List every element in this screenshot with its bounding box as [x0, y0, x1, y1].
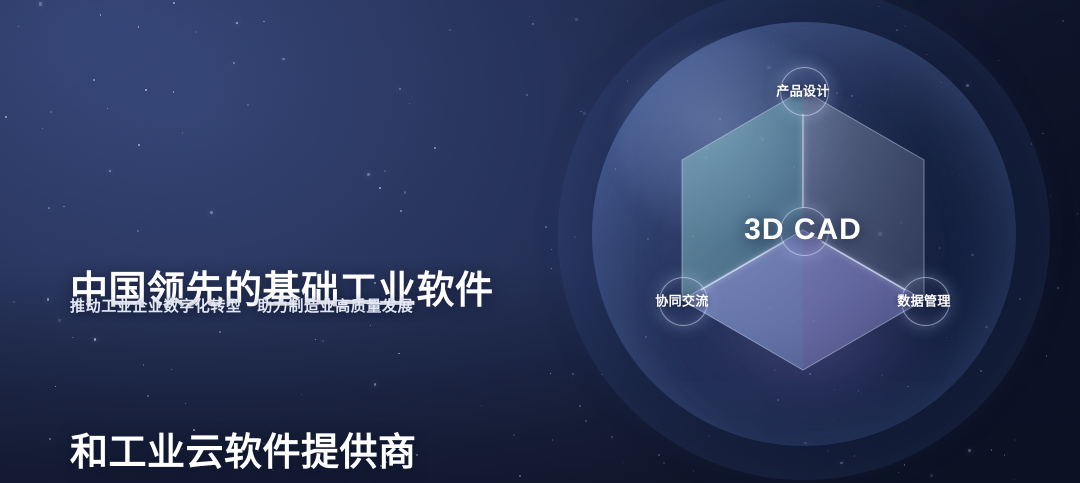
star-particle [233, 62, 235, 64]
star-particle [247, 104, 249, 106]
star-particle [48, 207, 50, 209]
star-particle [991, 449, 993, 451]
star-particle [585, 420, 587, 422]
star-particle [1077, 213, 1079, 215]
star-particle [55, 386, 56, 387]
star-particle [552, 439, 554, 441]
star-particle [282, 58, 284, 60]
sphere-diagram: 产品设计 协同交流 数据管理 3D CAD [592, 22, 1016, 446]
star-particle [1004, 454, 1006, 456]
star-particle [173, 2, 175, 4]
star-particle [663, 462, 665, 464]
star-particle [173, 91, 175, 93]
star-particle [50, 111, 52, 113]
star-particle [904, 464, 905, 465]
star-particle [107, 108, 108, 109]
node-label-product-design[interactable]: 产品设计 [776, 81, 830, 100]
star-particle [1050, 196, 1051, 197]
star-particle [93, 79, 95, 81]
star-particle [572, 373, 574, 375]
star-particle [409, 103, 410, 104]
star-particle [236, 22, 238, 24]
node-label-collaboration[interactable]: 协同交流 [655, 291, 709, 310]
hero-banner: 中国领先的基础工业软件 和工业云软件提供商 推动工业企业数字化转型 助力制造业高… [0, 0, 1080, 483]
star-particle [63, 206, 64, 207]
star-particle [49, 438, 51, 440]
star-particle [263, 21, 264, 22]
star-particle [693, 470, 695, 472]
star-particle [5, 116, 7, 118]
star-particle [579, 405, 581, 407]
node-label-data-management[interactable]: 数据管理 [897, 291, 951, 310]
star-particle [583, 112, 586, 115]
star-particle [1074, 237, 1076, 239]
star-particle [513, 434, 515, 436]
page-title: 中国领先的基础工业软件 和工业云软件提供商 [70, 157, 494, 483]
star-particle [1014, 479, 1015, 480]
star-particle [182, 132, 184, 134]
star-particle [545, 226, 547, 228]
star-particle [551, 249, 552, 250]
star-particle [42, 128, 43, 129]
star-particle [399, 88, 401, 90]
star-particle [39, 2, 43, 6]
star-particle [519, 475, 521, 477]
star-particle [1042, 133, 1044, 135]
star-particle [551, 268, 553, 270]
star-particle [18, 26, 19, 27]
star-particle [195, 31, 197, 33]
star-particle [1046, 355, 1048, 357]
star-particle [550, 373, 551, 374]
star-particle [526, 94, 528, 96]
node-label-center: 3D CAD [744, 213, 862, 247]
star-particle [100, 14, 102, 16]
star-particle [580, 111, 582, 113]
star-particle [898, 472, 899, 473]
page-subtitle: 推动工业企业数字化转型 助力制造业高质量发展 [70, 295, 413, 316]
star-particle [449, 29, 451, 31]
star-particle [968, 449, 971, 452]
headline-line-2: 和工业云软件提供商 [70, 427, 494, 481]
star-particle [58, 319, 60, 321]
star-particle [930, 474, 933, 477]
star-particle [138, 26, 140, 28]
star-particle [532, 23, 534, 25]
star-particle [13, 301, 15, 303]
star-particle [138, 144, 140, 146]
star-particle [47, 298, 49, 300]
star-particle [658, 454, 660, 456]
star-particle [1069, 460, 1070, 461]
star-particle [1062, 20, 1064, 22]
star-particle [1057, 287, 1059, 289]
star-particle [575, 18, 578, 21]
star-particle [145, 89, 146, 90]
star-particle [529, 16, 530, 17]
star-particle [622, 462, 624, 464]
star-particle [434, 147, 436, 149]
